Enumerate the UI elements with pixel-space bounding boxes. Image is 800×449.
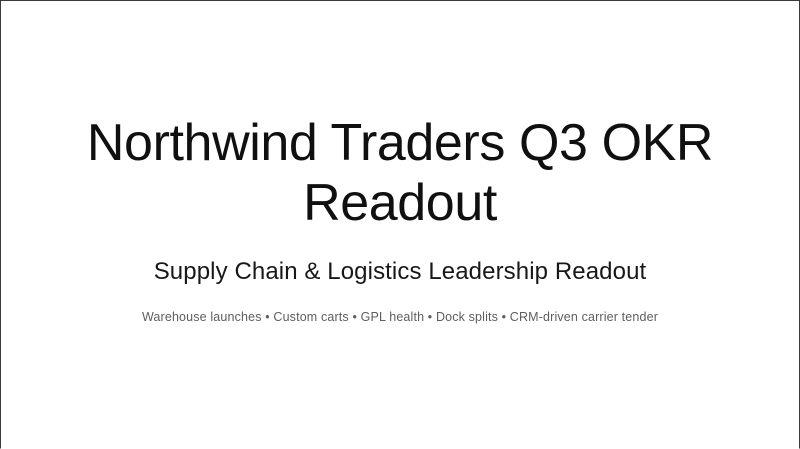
title-block: Northwind Traders Q3 OKR Readout — [70, 113, 730, 234]
slide-tagline: Warehouse launches • Custom carts • GPL … — [142, 309, 658, 326]
slide-subtitle: Supply Chain & Logistics Leadership Read… — [154, 256, 647, 287]
slide-title: Northwind Traders Q3 OKR Readout — [70, 113, 730, 234]
title-slide: Northwind Traders Q3 OKR Readout Supply … — [0, 0, 800, 449]
slide-content: Northwind Traders Q3 OKR Readout Supply … — [1, 113, 799, 326]
